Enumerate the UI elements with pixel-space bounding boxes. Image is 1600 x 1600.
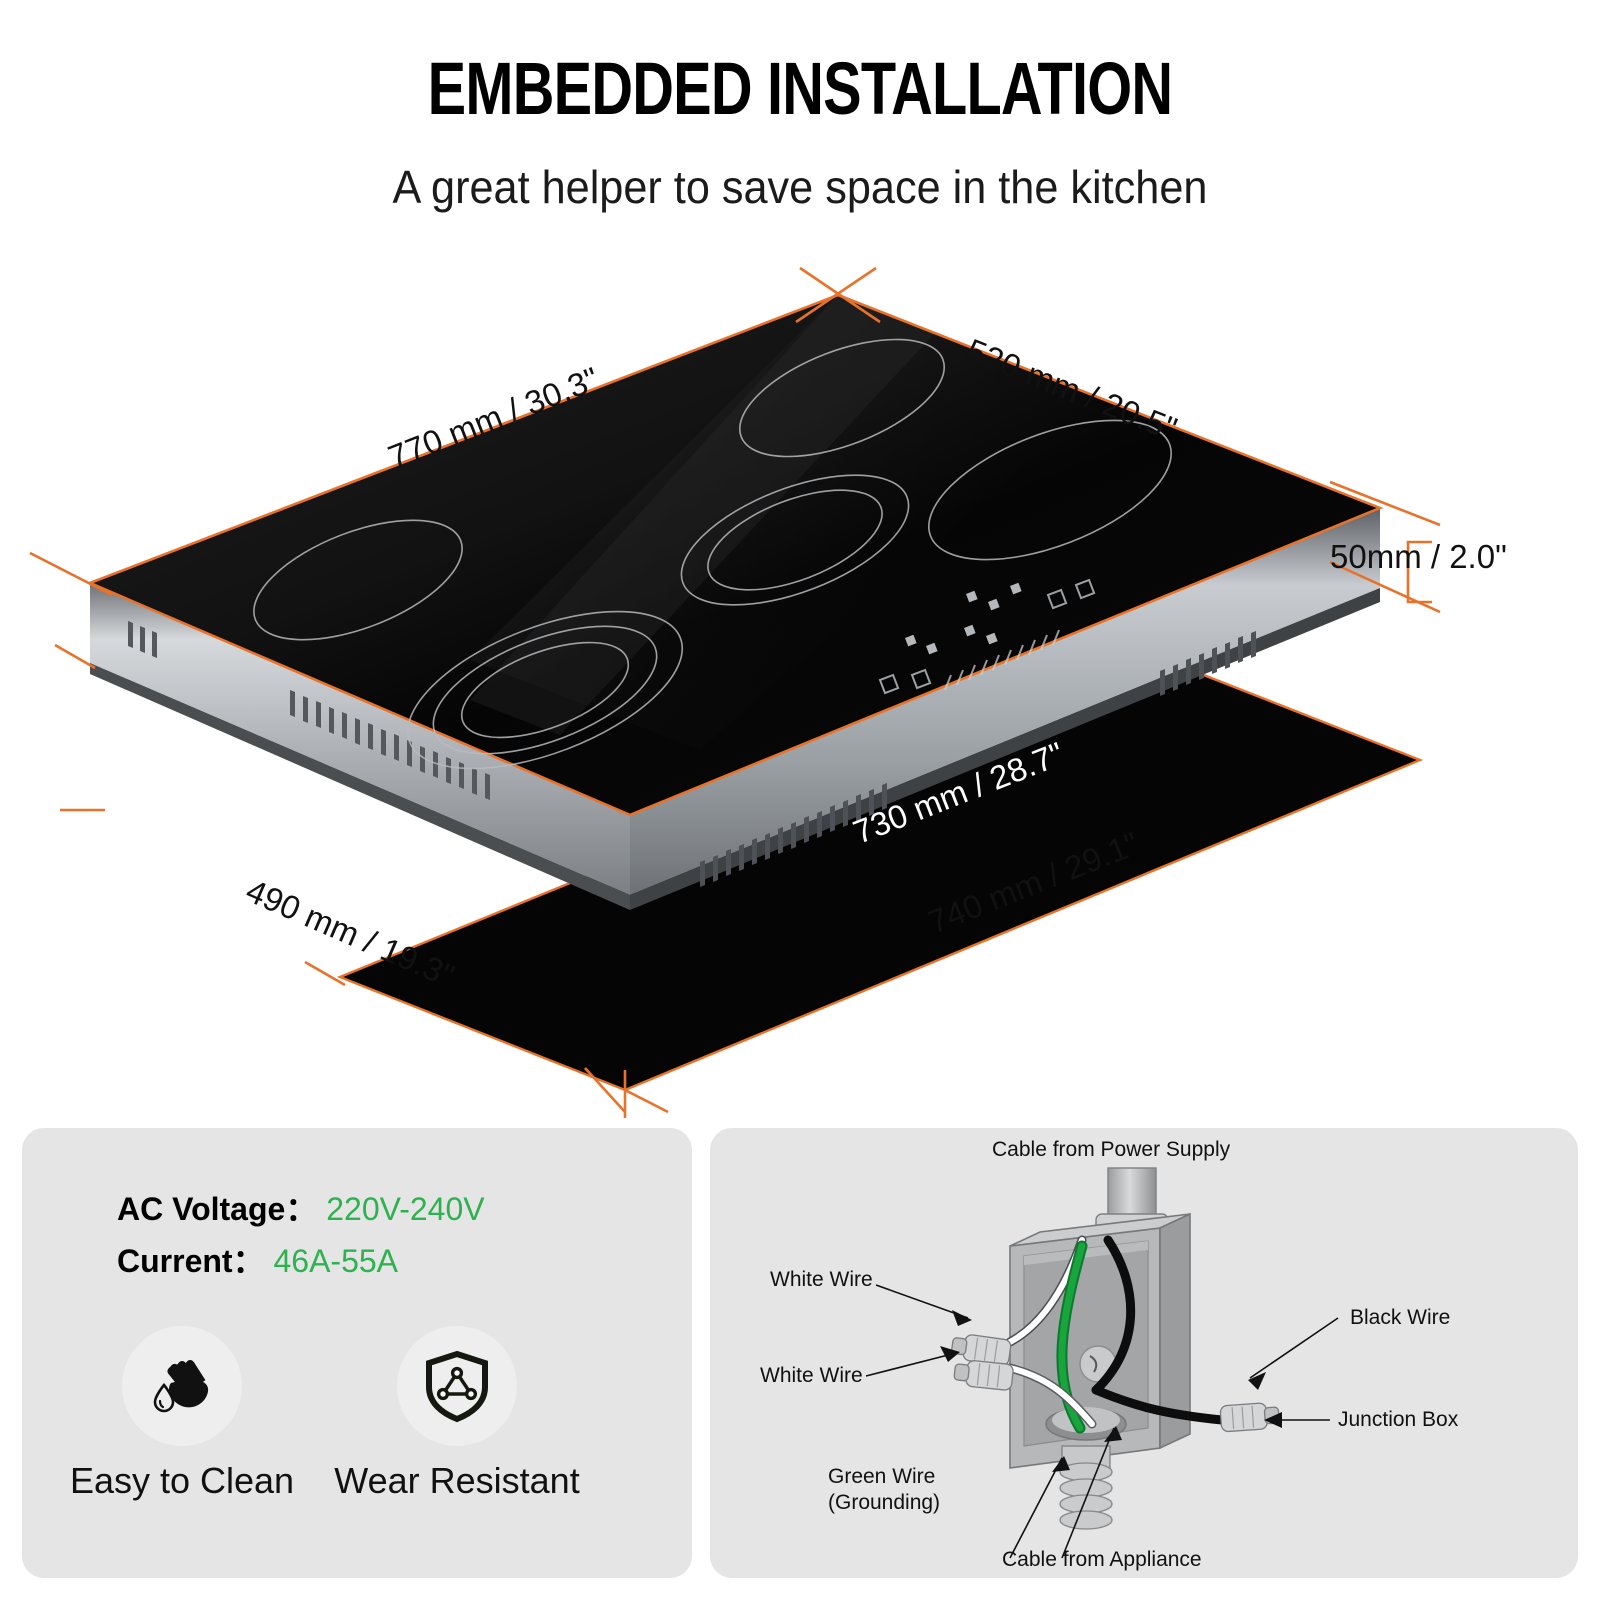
infographic-page: EMBEDDED INSTALLATION A great helper to … — [0, 0, 1600, 1600]
spec-key-current: Current： — [117, 1243, 265, 1279]
wiring-label-junction-box: Junction Box — [1338, 1408, 1458, 1432]
shield-molecule-icon — [397, 1326, 517, 1446]
wiring-diagram-panel: Cable from Power Supply White Wire White… — [710, 1128, 1578, 1578]
wiring-label-white-wire-upper: White Wire — [770, 1268, 873, 1292]
hand-water-drop-icon — [122, 1326, 242, 1446]
feature-wear-resistant: Wear Resistant — [332, 1326, 582, 1502]
feature-label-wear-resistant: Wear Resistant — [332, 1460, 582, 1502]
wiring-label-top: Cable from Power Supply — [992, 1138, 1230, 1162]
wiring-label-bottom: Cable from Appliance — [1002, 1548, 1202, 1572]
page-title: EMBEDDED INSTALLATION — [176, 46, 1424, 131]
conduit-bottom — [1060, 1446, 1112, 1529]
spec-value-voltage: 220V-240V — [326, 1191, 484, 1227]
wiring-label-green-wire-line1: Green Wire — [828, 1465, 935, 1488]
specs-panel: AC Voltage： 220V-240V Current： 46A-55A — [22, 1128, 692, 1578]
spec-value-current: 46A-55A — [273, 1243, 398, 1279]
spec-row-current: Current： 46A-55A — [117, 1236, 398, 1282]
dimension-label-thickness: 50mm / 2.0" — [1330, 538, 1507, 576]
junction-box-body — [1010, 1214, 1190, 1468]
feature-easy-to-clean: Easy to Clean — [57, 1326, 307, 1502]
wiring-label-green-wire-line2: (Grounding) — [828, 1491, 940, 1514]
page-subtitle: A great helper to save space in the kitc… — [48, 160, 1552, 214]
product-illustration: 770 mm / 30.3" 520 mm / 20.5" 50mm / 2.0… — [0, 250, 1600, 1120]
wiring-label-black-wire: Black Wire — [1350, 1306, 1450, 1330]
feature-label-easy-to-clean: Easy to Clean — [57, 1460, 307, 1502]
spec-row-voltage: AC Voltage： 220V-240V — [117, 1184, 485, 1230]
wiring-label-white-wire-lower: White Wire — [760, 1364, 863, 1388]
wiring-label-green-wire: Green Wire (Grounding) — [828, 1464, 1008, 1517]
spec-key-voltage: AC Voltage： — [117, 1191, 317, 1227]
